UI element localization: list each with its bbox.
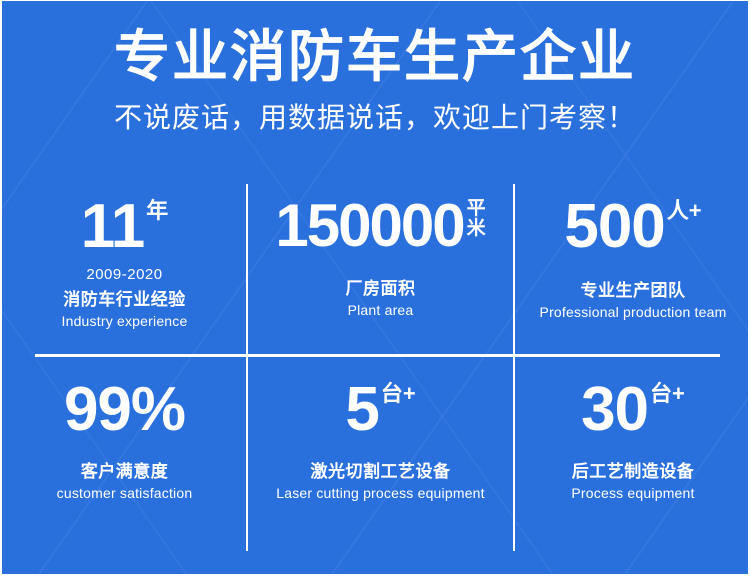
stat-cell-laser-cutting-equipment: 5 台+ 激光切割工艺设备 Laser cutting process equi… — [247, 355, 514, 551]
stat-cell-customer-satisfaction: 99% 客户满意度 customer satisfaction — [2, 355, 247, 551]
stat-cell-process-equipment: 30 台+ 后工艺制造设备 Process equipment — [514, 355, 750, 551]
stat-label-cn: 激光切割工艺设备 — [311, 461, 451, 482]
stat-label-cn: 后工艺制造设备 — [572, 461, 695, 482]
stat-unit: 平 米 — [467, 199, 486, 239]
stat-value: 500 — [564, 196, 664, 258]
stat-value: 30 — [581, 379, 648, 441]
stat-label-en: customer satisfaction — [57, 485, 193, 503]
stat-number-group: 5 台+ — [345, 379, 415, 441]
stat-value: 150000 — [275, 196, 463, 256]
stat-label-cn: 消防车行业经验 — [63, 289, 186, 310]
stat-unit: 年 — [146, 200, 168, 222]
stat-value: 5 — [345, 379, 378, 441]
stat-unit: 台+ — [650, 383, 685, 405]
stat-label-cn: 专业生产团队 — [581, 280, 686, 301]
stat-unit-bottom: 米 — [467, 219, 486, 239]
stat-unit: 人+ — [667, 200, 702, 222]
stat-value: 99% — [64, 379, 185, 441]
banner-header: 专业消防车生产企业 不说废话，用数据说话，欢迎上门考察！ — [2, 1, 748, 134]
stat-unit: 台+ — [381, 383, 416, 405]
stat-label-en: Professional production team — [540, 304, 727, 322]
stat-cell-industry-experience: 11 年 2009-2020 消防车行业经验 Industry experien… — [2, 184, 247, 355]
stat-number-group: 30 台+ — [581, 379, 685, 441]
promo-banner: 专业消防车生产企业 不说废话，用数据说话，欢迎上门考察！ 11 年 2009-2… — [0, 0, 750, 576]
stat-label-cn: 客户满意度 — [81, 461, 169, 482]
stat-unit-top: 平 — [467, 199, 486, 219]
stat-number-group: 500 人+ — [564, 196, 701, 258]
stat-number-group: 11 年 — [81, 196, 169, 258]
stat-cell-production-team: 500 人+ 专业生产团队 Professional production te… — [514, 184, 750, 355]
stat-label-en: Plant area — [348, 302, 414, 320]
stats-grid: 11 年 2009-2020 消防车行业经验 Industry experien… — [2, 184, 750, 551]
stat-number-group: 150000 平 米 — [275, 196, 485, 256]
stat-label-en: Process equipment — [571, 485, 694, 503]
stat-cell-plant-area: 150000 平 米 厂房面积 Plant area — [247, 184, 514, 355]
stat-label-en: Industry experience — [62, 313, 188, 331]
page-title: 专业消防车生产企业 — [2, 1, 748, 89]
stat-label-en: Laser cutting process equipment — [276, 485, 485, 503]
stat-value: 11 — [81, 196, 145, 258]
page-subtitle: 不说废话，用数据说话，欢迎上门考察！ — [2, 89, 748, 135]
stat-daterange: 2009-2020 — [86, 266, 162, 284]
stat-label-cn: 厂房面积 — [346, 278, 416, 299]
stat-number-group: 99% — [64, 379, 185, 441]
